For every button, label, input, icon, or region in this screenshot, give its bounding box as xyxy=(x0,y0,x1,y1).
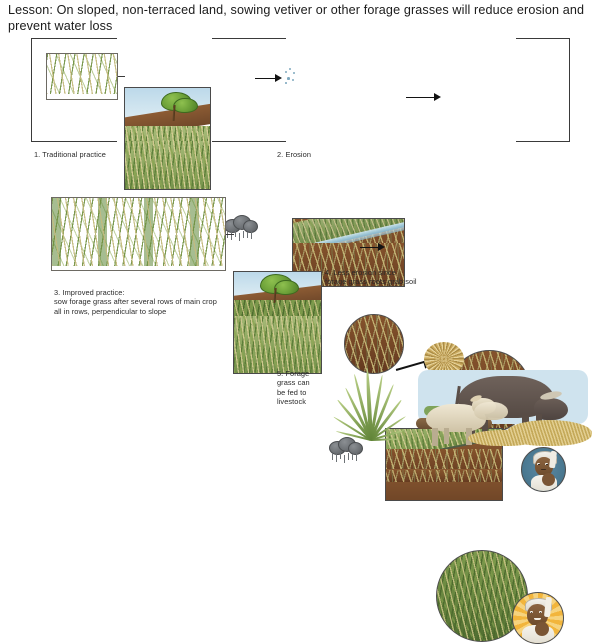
lesson-poster: Lesson: On sloped, non-terraced land, so… xyxy=(0,0,601,447)
crop-rows-schematic xyxy=(46,53,118,100)
farmer-hand xyxy=(535,622,549,636)
crop-and-grass-rows-schematic xyxy=(51,197,226,271)
caption-1-traditional-practice: 1. Traditional practice xyxy=(34,150,194,159)
caption-5-forage-fed-to-livestock: 5. Forage grass can be fed to livestock xyxy=(277,369,337,407)
arrow-rain-to-erosion xyxy=(255,74,285,83)
connector-line-1 xyxy=(118,76,125,77)
row-3-livestock: 5. Forage grass can be fed to livestock xyxy=(0,340,601,447)
straw-fodder-pile-2 xyxy=(468,430,538,446)
caption-3-improved-practice: 3. Improved practice: sow forage grass a… xyxy=(54,288,284,316)
goat-back xyxy=(474,402,508,420)
caption-2-erosion: 2. Erosion xyxy=(277,150,397,159)
sloped-field-photo xyxy=(124,87,211,190)
livestock-feeding-scene xyxy=(410,362,595,447)
vetiver-grass-tuft xyxy=(340,352,402,440)
connector-line-2 xyxy=(226,234,234,235)
row-2-improved: 3. Improved practice: sow forage grass a… xyxy=(0,185,601,325)
rain-cloud xyxy=(329,598,363,624)
row-1-frame-mask-2 xyxy=(286,30,516,148)
farmer-hand xyxy=(542,473,555,486)
caption-4-less-erosion: 4. Less erosion since forage grass roots… xyxy=(325,268,465,287)
water-splash xyxy=(284,68,298,86)
row-1-traditional: 1. Traditional practice 2. Erosion xyxy=(0,0,601,175)
happy-farmer-portrait xyxy=(512,592,564,644)
worried-farmer-portrait xyxy=(521,447,566,492)
arrow-rain-to-protected-slope xyxy=(360,243,388,252)
arrow-to-closeup xyxy=(406,93,444,102)
